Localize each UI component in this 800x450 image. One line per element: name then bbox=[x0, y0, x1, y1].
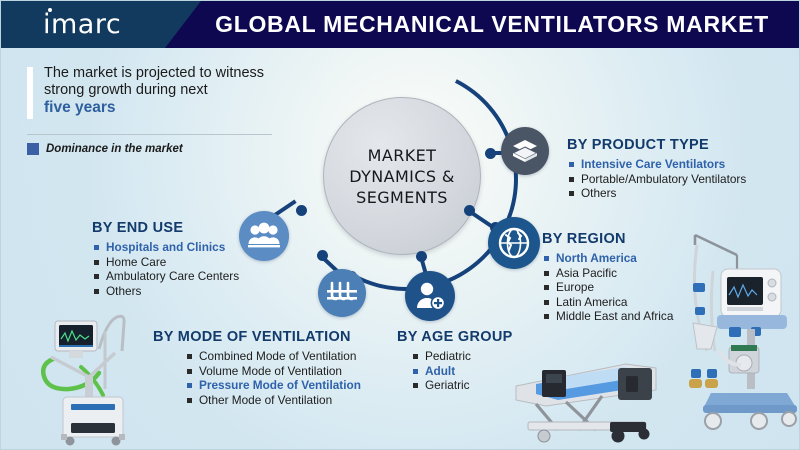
intro-line-1: The market is projected to witness bbox=[44, 65, 264, 81]
segment-title-product-type: BY PRODUCT TYPE bbox=[567, 137, 746, 153]
intro-text: The market is projected to witness stron… bbox=[44, 65, 297, 117]
hub-line-2: DYNAMICS & bbox=[349, 167, 455, 186]
intro-highlight: five years bbox=[44, 99, 116, 116]
bubble-age-group[interactable] bbox=[405, 271, 455, 321]
person-add-icon bbox=[414, 281, 446, 311]
bubble-product-type[interactable] bbox=[501, 127, 549, 175]
legend-label: Dominance in the market bbox=[46, 143, 183, 155]
list-item: Ambulatory Care Centers bbox=[92, 269, 239, 284]
list-item: Adult bbox=[411, 364, 513, 379]
legend-swatch bbox=[27, 143, 39, 155]
list-item: Europe bbox=[542, 280, 673, 295]
connector-node-ring-age-group bbox=[416, 251, 427, 262]
box-stack-icon bbox=[511, 138, 539, 164]
connector-node-ring-end-use bbox=[296, 205, 307, 216]
segment-list-end-use: Hospitals and Clinics Home Care Ambulato… bbox=[92, 240, 239, 298]
list-item: Others bbox=[92, 284, 239, 299]
list-item: Volume Mode of Ventilation bbox=[185, 364, 361, 379]
hub-circle: MARKET DYNAMICS & SEGMENTS bbox=[323, 97, 481, 255]
list-item: Latin America bbox=[542, 295, 673, 310]
segment-title-end-use: BY END USE bbox=[92, 220, 239, 236]
connector-node-ring-product-type bbox=[485, 148, 496, 159]
intro-line-2: strong growth during next bbox=[44, 82, 208, 98]
globe-icon bbox=[497, 226, 531, 260]
list-item: Pressure Mode of Ventilation bbox=[185, 378, 361, 393]
ventilator-machine-photo bbox=[23, 301, 163, 446]
list-item: North America bbox=[542, 251, 673, 266]
list-item: Other Mode of Ventilation bbox=[185, 393, 361, 408]
legend: Dominance in the market bbox=[27, 143, 183, 155]
segment-title-region: BY REGION bbox=[542, 231, 673, 247]
segment-title-mode-of-ventilation: BY MODE OF VENTILATION bbox=[153, 329, 361, 345]
intro-accent-bar bbox=[27, 67, 33, 119]
header-bar: imarc GLOBAL MECHANICAL VENTILATORS MARK… bbox=[1, 1, 800, 48]
list-item: Pediatric bbox=[411, 349, 513, 364]
connector-node-ring-mode bbox=[317, 250, 328, 261]
page-title: GLOBAL MECHANICAL VENTILATORS MARKET bbox=[187, 1, 797, 48]
list-item: Geriatric bbox=[411, 378, 513, 393]
bubble-region[interactable] bbox=[488, 217, 540, 269]
bubble-end-use[interactable] bbox=[239, 211, 289, 261]
hub-line-3: SEGMENTS bbox=[356, 188, 448, 207]
segment-list-region: North America Asia Pacific Europe Latin … bbox=[542, 251, 673, 324]
list-item: Combined Mode of Ventilation bbox=[185, 349, 361, 364]
bubble-mode-of-ventilation[interactable] bbox=[318, 269, 366, 317]
people-group-icon bbox=[247, 222, 281, 250]
connector-node-ring-region bbox=[464, 205, 475, 216]
list-item: Portable/Ambulatory Ventilators bbox=[567, 172, 746, 187]
imarc-logo[interactable]: imarc bbox=[43, 9, 121, 40]
hub-line-1: MARKET bbox=[368, 146, 437, 165]
hospital-bed-photo bbox=[506, 346, 681, 446]
segment-mode-of-ventilation: BY MODE OF VENTILATION Combined Mode of … bbox=[153, 329, 361, 407]
ventilator-machine-icon bbox=[23, 301, 163, 446]
list-item: Hospitals and Clinics bbox=[92, 240, 239, 255]
segment-product-type: BY PRODUCT TYPE Intensive Care Ventilato… bbox=[567, 137, 746, 201]
ventilator-unit-icon bbox=[673, 223, 799, 445]
segment-region: BY REGION North America Asia Pacific Eur… bbox=[542, 231, 673, 324]
list-item: Others bbox=[567, 186, 746, 201]
list-item: Home Care bbox=[92, 255, 239, 270]
segment-list-mode-of-ventilation: Combined Mode of Ventilation Volume Mode… bbox=[185, 349, 361, 407]
intro-divider bbox=[27, 134, 272, 135]
segment-list-age-group: Pediatric Adult Geriatric bbox=[411, 349, 513, 393]
intro-block: The market is projected to witness stron… bbox=[27, 65, 297, 117]
ventilator-unit-photo bbox=[673, 223, 799, 445]
segment-age-group: BY AGE GROUP Pediatric Adult Geriatric bbox=[397, 329, 513, 393]
hub-label: MARKET DYNAMICS & SEGMENTS bbox=[349, 145, 455, 208]
list-item: Asia Pacific bbox=[542, 266, 673, 281]
segment-end-use: BY END USE Hospitals and Clinics Home Ca… bbox=[92, 220, 239, 298]
segment-list-product-type: Intensive Care Ventilators Portable/Ambu… bbox=[567, 157, 746, 201]
ventilation-waveform-icon bbox=[326, 279, 358, 307]
infographic-canvas: imarc GLOBAL MECHANICAL VENTILATORS MARK… bbox=[0, 0, 800, 450]
hospital-bed-icon bbox=[506, 346, 681, 446]
list-item: Intensive Care Ventilators bbox=[567, 157, 746, 172]
segment-title-age-group: BY AGE GROUP bbox=[397, 329, 513, 345]
list-item: Middle East and Africa bbox=[542, 309, 673, 324]
